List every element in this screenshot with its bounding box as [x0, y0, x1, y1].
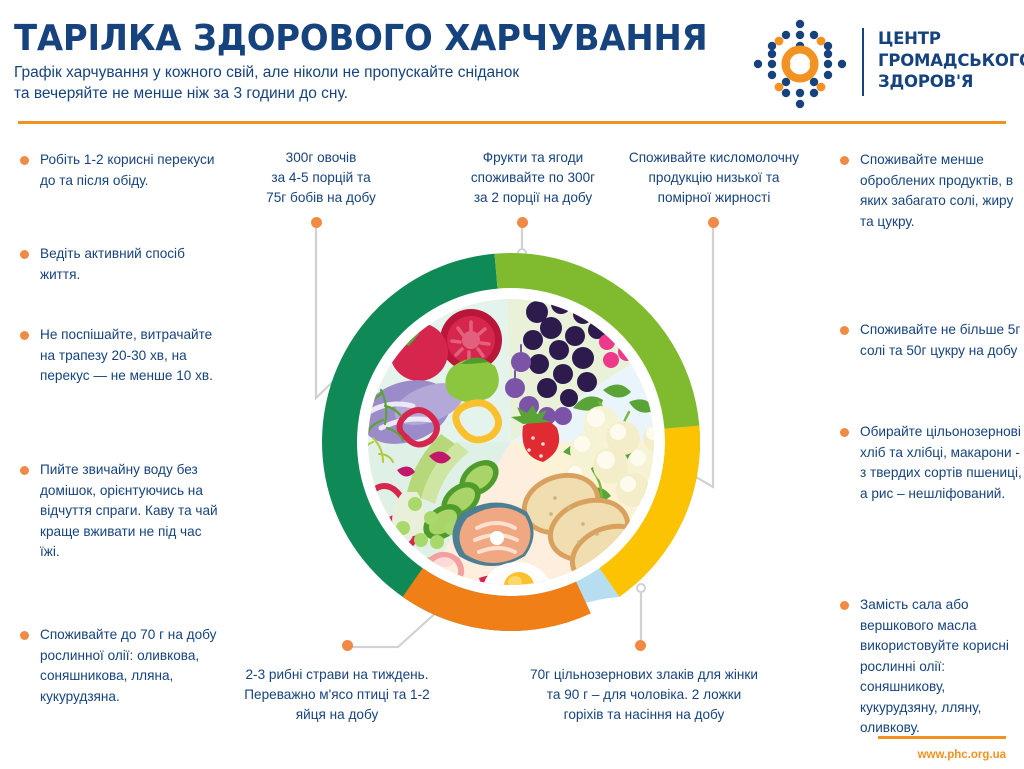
callout-fruits-line-2: споживайте по 300г	[440, 168, 626, 188]
right-tip-1-text: Споживайте менше оброблених продуктів, в…	[860, 152, 1013, 229]
right-tip-1: Споживайте менше оброблених продуктів, в…	[834, 150, 1024, 232]
subtitle-line-2: та вечеряйте не менше ніж за 3 години до…	[14, 83, 714, 104]
left-tip-5-text: Споживайте до 70 г на добу рослинної олі…	[40, 627, 216, 704]
logo-text-line-2: ГРОМАДСЬКОГО	[878, 50, 1024, 72]
logo-divider	[862, 28, 864, 96]
header: ТАРІЛКА ЗДОРОВОГО ХАРЧУВАННЯ Графік харч…	[0, 0, 1024, 122]
logo-text-line-3: ЗДОРОВ'Я	[878, 71, 1024, 93]
bullet-dot-icon	[840, 601, 849, 610]
left-tip-4: Пийте звичайну воду без домішок, орієнту…	[14, 460, 220, 563]
callout-grains-line-3: горіхів та насіння на добу	[486, 705, 802, 725]
callout-grains-line-1: 70г цільнозернових злаків для жінки	[486, 665, 802, 685]
callout-dairy: Споживайте кисломолочну продукцію низько…	[602, 148, 826, 208]
left-tip-2-text: Ведіть активний спосіб життя.	[40, 246, 185, 282]
right-tip-4-text: Замість сала або вершкового масла викори…	[860, 597, 1009, 735]
right-tip-3-text: Обирайте цільонозернові хліб та хлібці, …	[860, 424, 1022, 501]
left-tip-1: Робіть 1-2 корисні перекуси до та після …	[14, 150, 220, 191]
callout-protein-line-2: Переважно м'ясо птиці та 1-2	[196, 685, 478, 705]
right-tip-2: Споживайте не більше 5г солі та 50г цукр…	[834, 320, 1024, 361]
bullet-dot-icon	[20, 631, 29, 640]
infographic-page: ТАРІЛКА ЗДОРОВОГО ХАРЧУВАННЯ Графік харч…	[0, 0, 1024, 769]
callout-dot-dairy	[708, 217, 719, 228]
left-tip-3: Не поспішайте, витрачайте на трапезу 20-…	[14, 325, 220, 387]
phc-dot-diamond-logo-icon	[748, 18, 852, 110]
right-tip-2-text: Споживайте не більше 5г солі та 50г цукр…	[860, 322, 1020, 358]
callout-dot-vegetables	[311, 217, 322, 228]
callout-fruits: Фрукти та ягоди споживайте по 300г за 2 …	[440, 148, 626, 208]
callout-vegetables: 300г овочів за 4-5 порцій та 75г бобів н…	[228, 148, 414, 208]
subtitle-line-1: Графік харчування у кожного свій, але ні…	[14, 62, 714, 83]
page-title: ТАРІЛКА ЗДОРОВОГО ХАРЧУВАННЯ	[14, 18, 708, 59]
footer-divider	[878, 736, 1006, 739]
callout-protein-line-3: яйця на добу	[196, 705, 478, 725]
bullet-dot-icon	[840, 428, 849, 437]
callout-vegetables-line-3: 75г бобів на добу	[228, 188, 414, 208]
footer-url[interactable]: www.phc.org.ua	[918, 749, 1006, 761]
bullet-dot-icon	[20, 156, 29, 165]
callout-dot-protein	[342, 640, 353, 651]
callout-protein: 2-3 рибні страви на тиждень. Переважно м…	[196, 665, 478, 725]
bullet-dot-icon	[840, 326, 849, 335]
left-tip-4-text: Пийте звичайну воду без домішок, орієнту…	[40, 462, 218, 559]
right-tip-4: Замість сала або вершкового масла викори…	[834, 595, 1024, 739]
callout-dot-grains	[635, 640, 646, 651]
callout-grains: 70г цільнозернових злаків для жінки та 9…	[486, 665, 802, 725]
bullet-dot-icon	[840, 156, 849, 165]
left-tip-2: Ведіть активний спосіб життя.	[14, 244, 220, 285]
callout-vegetables-line-2: за 4-5 порцій та	[228, 168, 414, 188]
callout-dairy-line-2: продукцію низької та	[602, 168, 826, 188]
bullet-dot-icon	[20, 331, 29, 340]
logo-text-line-1: ЦЕНТР	[878, 28, 1024, 50]
callout-fruits-line-1: Фрукти та ягоди	[440, 148, 626, 168]
callout-dot-fruits	[517, 217, 528, 228]
page-subtitle: Графік харчування у кожного свій, але ні…	[14, 62, 714, 104]
bullet-dot-icon	[20, 250, 29, 259]
callout-protein-line-1: 2-3 рибні страви на тиждень.	[196, 665, 478, 685]
header-divider	[18, 121, 1006, 124]
bullet-dot-icon	[20, 466, 29, 475]
healthy-eating-plate	[311, 242, 711, 642]
callout-grains-line-2: та 90 г – для чоловіка. 2 ложки	[486, 685, 802, 705]
right-tip-3: Обирайте цільонозернові хліб та хлібці, …	[834, 422, 1024, 504]
callout-vegetables-line-1: 300г овочів	[228, 148, 414, 168]
left-tip-5: Споживайте до 70 г на добу рослинної олі…	[14, 625, 220, 707]
callout-fruits-line-3: за 2 порції на добу	[440, 188, 626, 208]
left-tip-3-text: Не поспішайте, витрачайте на трапезу 20-…	[40, 327, 213, 383]
left-tip-1-text: Робіть 1-2 корисні перекуси до та після …	[40, 152, 214, 188]
callout-dairy-line-1: Споживайте кисломолочну	[602, 148, 826, 168]
callout-dairy-line-3: помірної жирності	[602, 188, 826, 208]
logo-text: ЦЕНТР ГРОМАДСЬКОГО ЗДОРОВ'Я	[878, 28, 1024, 93]
organization-logo: ЦЕНТР ГРОМАДСЬКОГО ЗДОРОВ'Я	[748, 14, 1014, 110]
